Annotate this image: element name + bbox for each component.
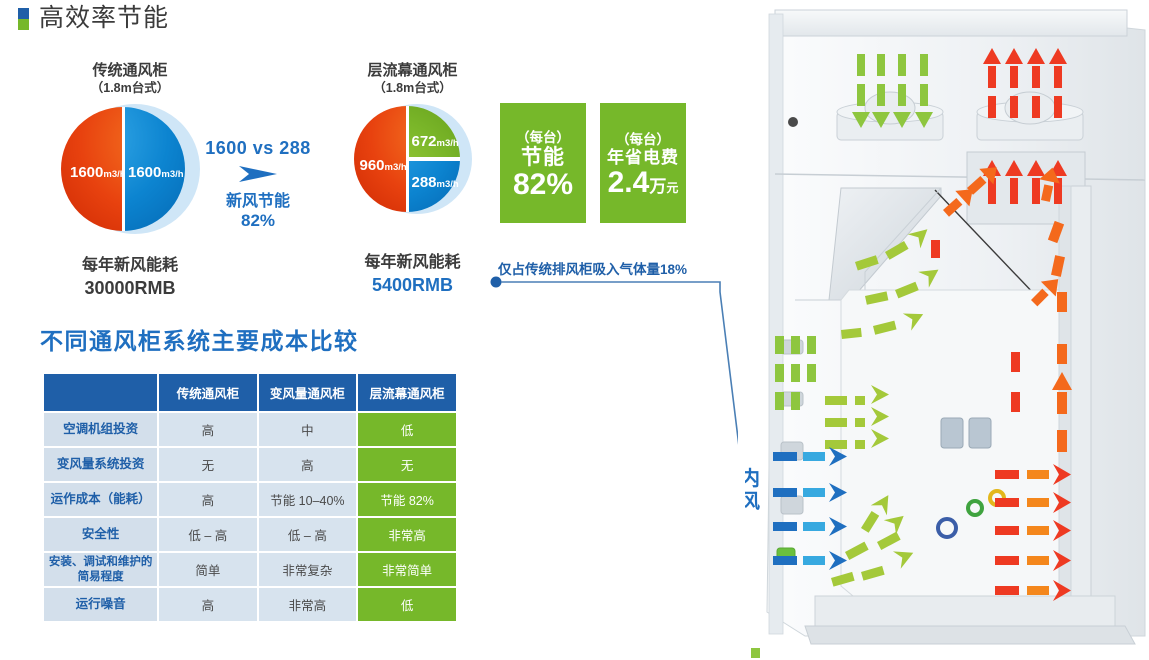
row-label: 运作成本（能耗） — [44, 483, 157, 516]
left-panel: 传统通风柜 （1.8m台式） 1600m3/h 1600m3/h — [0, 0, 745, 660]
row-value-highlight: 非常简单 — [358, 553, 456, 586]
row-label: 运行噪音 — [44, 588, 157, 621]
badge-number: 82 — [513, 168, 546, 201]
pie-chart-laminar: 960m3/h 672m3/h 288m3/h — [354, 104, 472, 216]
row-label: 空调机组投资 — [44, 413, 157, 446]
row-value: 非常高 — [259, 588, 357, 621]
badge-suffix: % — [546, 168, 573, 201]
badge-title: 年省电费 — [607, 149, 679, 167]
pie-spec-laminar: （1.8m台式） — [325, 81, 500, 97]
pie-unit: m3/h — [437, 138, 459, 149]
table-row: 变风量系统投资 无 高 无 — [44, 448, 456, 481]
row-value: 高 — [159, 483, 256, 516]
table-row: 运作成本（能耗） 高 节能 10–40% 节能 82% — [44, 483, 456, 516]
poster-page: 高效率节能 传统通风柜 （1.8m台式） 1600m3/h — [0, 0, 1149, 660]
pie-caption-traditional: 传统通风柜 （1.8m台式） — [36, 62, 224, 96]
pie-value: 672 — [412, 133, 437, 150]
badge-energy-saving: （每台） 节能 82% — [500, 103, 586, 223]
badge-yearly-saving: （每台） 年省电费 2.4万元 — [600, 103, 686, 223]
pie-footer-label: 每年新风能耗 — [325, 253, 500, 274]
row-value-highlight: 低 — [358, 588, 456, 621]
table-header-vav: 变风量通风柜 — [259, 374, 357, 411]
comparison-middle: 1600 vs 288 新风节能 82% — [196, 138, 320, 231]
pie-block-laminar: 层流幕通风柜 （1.8m台式） 960m3/h 672m3/h — [325, 62, 500, 298]
pie-label-laminar-blue: 288m3/h — [412, 174, 459, 192]
row-value: 简单 — [159, 553, 256, 586]
callout-annotation: 仅占传统排风柜吸入气体量18% — [498, 258, 687, 278]
comparison-ratio: 1600 vs 288 — [196, 138, 320, 159]
pie-value: 960 — [360, 157, 385, 174]
pie-footer-value: 30000RMB — [36, 277, 224, 300]
badge-number: 2.4 — [608, 166, 650, 199]
table-header-laminar: 层流幕通风柜 — [358, 374, 456, 411]
row-value-highlight: 低 — [358, 413, 456, 446]
badge-suffix-small: 元 — [666, 181, 678, 195]
row-value: 非常复杂 — [259, 553, 357, 586]
pie-gap-horizontal — [407, 157, 460, 161]
savings-badges: （每台） 节能 82% （每台） 年省电费 2.4万元 — [500, 103, 686, 223]
badge-title: 节能 — [521, 147, 565, 169]
pie-value: 1600 — [70, 164, 103, 181]
table-header-row: 传统通风柜 变风量通风柜 层流幕通风柜 — [44, 374, 456, 411]
badge-unit-label: （每台） — [616, 128, 670, 148]
pie-spec-traditional: （1.8m台式） — [36, 81, 224, 97]
table-row: 空调机组投资 高 中 低 — [44, 413, 456, 446]
row-label: 安全性 — [44, 518, 157, 551]
fume-hood-diagram — [745, 0, 1149, 660]
row-value: 节能 10–40% — [259, 483, 357, 516]
row-value: 中 — [259, 413, 357, 446]
pie-unit: m3/h — [385, 162, 407, 173]
pie-value: 1600 — [128, 164, 161, 181]
comparison-saving-label: 新风节能 — [196, 187, 320, 211]
cost-comparison-table: 传统通风柜 变风量通风柜 层流幕通风柜 空调机组投资 高 中 低 变风量系统投资… — [42, 372, 458, 623]
row-label: 变风量系统投资 — [44, 448, 157, 481]
row-value: 低 – 高 — [259, 518, 357, 551]
comparison-saving-value: 82% — [196, 211, 320, 231]
row-value-highlight: 非常高 — [358, 518, 456, 551]
pie-footer-traditional: 每年新风能耗 30000RMB — [36, 256, 224, 300]
table-row: 运行噪音 高 非常高 低 — [44, 588, 456, 621]
pie-unit: m3/h — [437, 179, 459, 190]
badge-unit-label: （每台） — [516, 126, 570, 146]
table-header-traditional: 传统通风柜 — [159, 374, 256, 411]
badge-suffix: 万 — [649, 177, 666, 196]
row-value: 低 – 高 — [159, 518, 256, 551]
row-value: 高 — [159, 413, 256, 446]
pie-footer-label: 每年新风能耗 — [36, 256, 224, 277]
pie-value: 288 — [412, 174, 437, 191]
row-value: 高 — [159, 588, 256, 621]
fume-hood-illustration: 内补风 排风 室内 新风 — [745, 0, 1149, 660]
section-title: 不同通风柜系统主要成本比较 — [40, 322, 359, 356]
pie-footer-laminar: 每年新风能耗 5400RMB — [325, 253, 500, 297]
pie-footer-value: 5400RMB — [325, 274, 500, 297]
table-row: 安装、调试和维护的简易程度 简单 非常复杂 非常简单 — [44, 553, 456, 586]
row-value-highlight: 无 — [358, 448, 456, 481]
callout-leader-line — [488, 274, 738, 489]
row-value-highlight: 节能 82% — [358, 483, 456, 516]
pie-label-laminar-orange: 960m3/h — [360, 157, 407, 175]
right-arrow-icon — [235, 163, 281, 185]
pie-name-traditional: 传统通风柜 — [36, 62, 224, 81]
pie-label-traditional-blue: 1600m3/h — [128, 164, 184, 182]
pie-label-laminar-green: 672m3/h — [412, 133, 459, 151]
row-label: 安装、调试和维护的简易程度 — [44, 553, 157, 586]
badge-value: 2.4万元 — [608, 167, 679, 199]
pie-chart-traditional: 1600m3/h 1600m3/h — [61, 104, 199, 234]
row-value: 无 — [159, 448, 256, 481]
table-header-blank — [44, 374, 157, 411]
pie-label-traditional-orange: 1600m3/h — [70, 164, 126, 182]
pie-unit: m3/h — [161, 169, 183, 180]
pie-caption-laminar: 层流幕通风柜 （1.8m台式） — [325, 62, 500, 96]
row-value: 高 — [259, 448, 357, 481]
pie-unit: m3/h — [103, 169, 125, 180]
badge-value: 82% — [513, 169, 573, 201]
table-row: 安全性 低 – 高 低 – 高 非常高 — [44, 518, 456, 551]
pie-name-laminar: 层流幕通风柜 — [325, 62, 500, 81]
